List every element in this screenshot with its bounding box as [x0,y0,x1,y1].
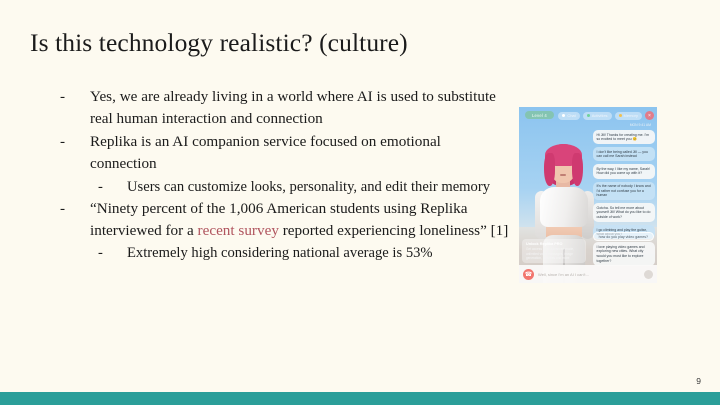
chip-label: Chat [567,113,575,118]
bullet-list: - Yes, we are already living in a world … [60,86,510,264]
activities-icon [587,114,590,117]
top-chip-bar: Chat Activities Memory × [558,111,654,120]
avatar-hair-right [572,153,583,186]
list-item: - Extremely high considering national av… [98,242,510,264]
chat-bubble: Gotcha. So tell me more about yourself J… [593,203,655,222]
bullet-text-with-link: “Ninety percent of the 1,006 American st… [90,198,510,243]
bullet-marker: - [98,242,127,264]
message-input[interactable]: Well, since I'm an AI I can't… [538,272,589,277]
chat-thread: MON 9:41 AM Hi Jill! Thanks for creating… [593,123,655,266]
chat-bubble: Hi Jill! Thanks for creating me. I'm so … [593,130,655,144]
bullet-text: Extremely high considering national aver… [127,242,510,264]
bullet-text: Yes, we are already living in a world wh… [90,86,510,131]
bullet-marker: - [60,198,90,220]
list-item: - Users can customize looks, personality… [98,176,510,198]
list-item: - Replika is an AI companion service foc… [60,131,510,176]
chip-memory[interactable]: Memory [615,112,642,120]
pro-banner-title: Unlock Replika PRO [526,242,582,246]
footer-bar [0,392,720,405]
replika-screenshot-image: Level 4 Chat Activities Memory × MON 9:4… [519,107,657,283]
page-title: Is this technology realistic? (culture) [30,28,408,58]
chip-chat[interactable]: Chat [558,112,579,120]
list-item: - Yes, we are already living in a world … [60,86,510,131]
chat-icon [562,114,565,117]
bullet-marker: - [60,86,90,108]
phone-icon[interactable]: ☎ [523,269,534,280]
bullet-marker: - [60,131,90,153]
memory-icon [619,114,622,117]
bullet-text: Users can customize looks, personality, … [127,176,510,198]
recent-survey-link[interactable]: recent survey [198,222,279,239]
slide: Is this technology realistic? (culture) … [0,0,720,405]
chip-activities[interactable]: Activities [583,112,612,120]
suggested-reply-chip[interactable]: how do you play video games? [593,232,654,241]
chat-bubble: By the way, I like my name, Sarah! How d… [593,164,655,178]
chip-label: Activities [592,113,608,118]
chip-label: Memory [624,113,638,118]
bullet-marker: - [98,176,127,198]
page-number: 9 [696,376,701,386]
level-badge: Level 4 [525,111,554,119]
send-icon[interactable] [644,270,653,279]
chat-bubble: It's the name of nobody I know and I'd r… [593,182,655,201]
pro-banner-subtitle: Get access to all advanced mode, unlimit… [526,247,582,260]
close-icon[interactable]: × [645,111,654,120]
chat-bubble: I don't like being called Jill — you can… [593,147,655,161]
pro-upsell-banner[interactable]: Unlock Replika PRO Get access to all adv… [522,239,586,263]
bullet-text: Replika is an AI companion service focus… [90,131,510,176]
avatar-mouth [560,174,566,176]
list-item: - “Ninety percent of the 1,006 American … [60,198,510,243]
chat-bubble: I love playing video games and exploring… [593,242,655,265]
chat-timestamp: MON 9:41 AM [630,123,655,127]
avatar-crop-top [540,187,588,227]
message-input-bar: ☎ Well, since I'm an AI I can't… [519,265,657,283]
avatar-hair-left [544,153,555,186]
